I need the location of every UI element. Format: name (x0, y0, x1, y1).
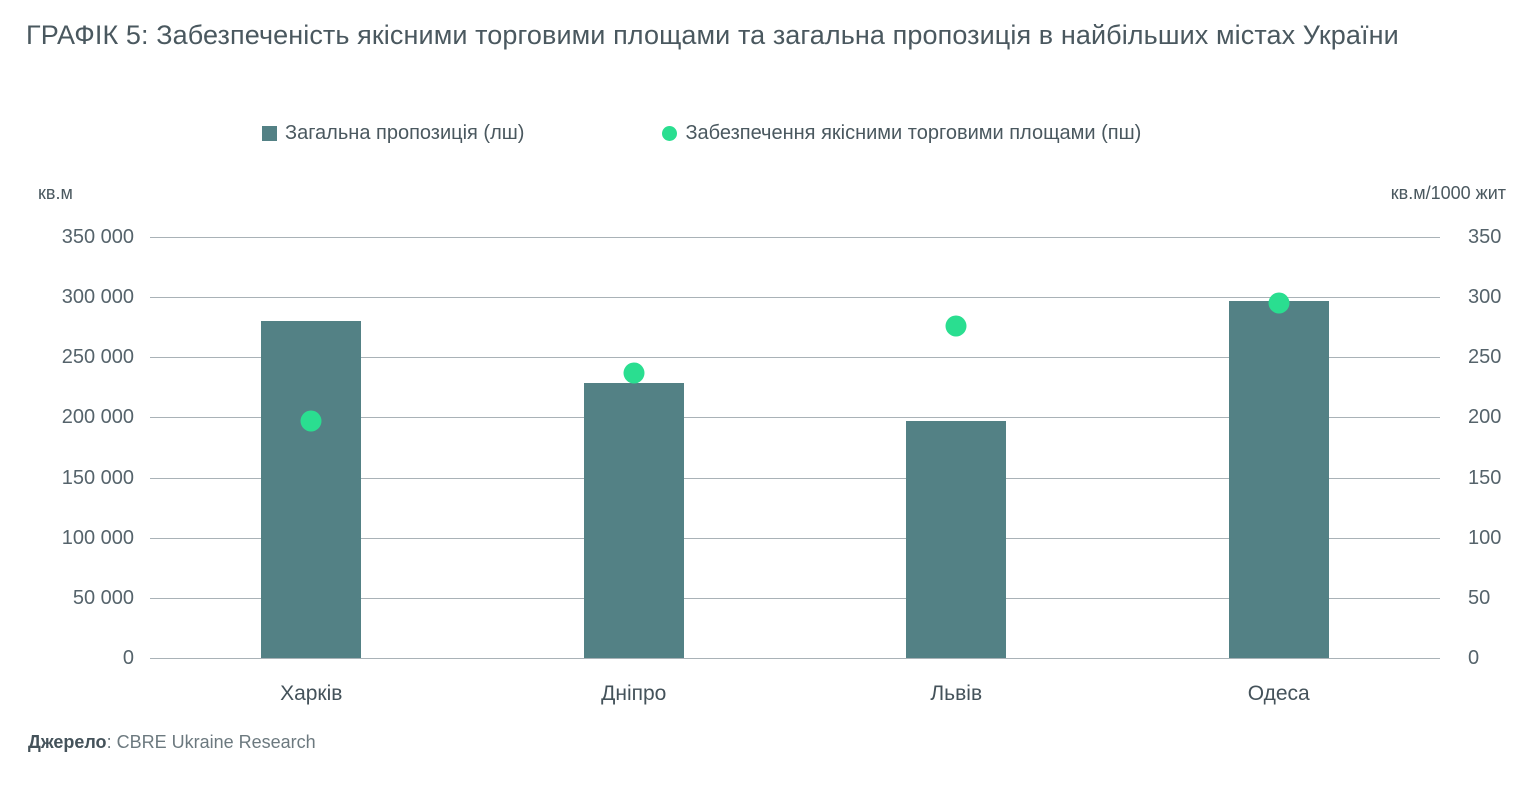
bar-львів[interactable] (906, 421, 1006, 658)
y-axis-tick-right: 50 (1468, 588, 1490, 608)
y-axis-tick-right: 0 (1468, 648, 1479, 668)
data-point-харків[interactable] (301, 411, 322, 432)
x-axis-label-дніпро: Дніпро (601, 682, 666, 706)
data-point-одеса[interactable] (1268, 293, 1289, 314)
source-note: Джерело: CBRE Ukraine Research (28, 732, 316, 753)
bar-одеса[interactable] (1229, 301, 1329, 658)
y-axis-tick-left: 0 (123, 648, 134, 668)
x-axis-label-львів: Львів (930, 682, 982, 706)
gridline (150, 297, 1440, 298)
data-point-дніпро[interactable] (623, 362, 644, 383)
y-axis-tick-right: 350 (1468, 227, 1501, 247)
y-axis-tick-right: 150 (1468, 468, 1501, 488)
source-separator: : (107, 732, 112, 752)
y-axis-tick-right: 100 (1468, 528, 1501, 548)
right-axis-unit: кв.м/1000 жит (1391, 183, 1506, 204)
source-label: Джерело (28, 732, 107, 752)
y-axis-tick-left: 250 000 (62, 347, 134, 367)
circle-marker-icon (662, 126, 677, 141)
gridline (150, 237, 1440, 238)
y-axis-tick-left: 300 000 (62, 287, 134, 307)
chart-title: ГРАФІК 5: Забезпеченість якісними торгов… (26, 16, 1446, 54)
legend-item-total-supply[interactable]: Загальна пропозиція (лш) (262, 122, 524, 145)
legend-label-provision: Забезпечення якісними торговими площами … (685, 122, 1141, 145)
left-axis-unit: кв.м (38, 183, 73, 204)
source-value: CBRE Ukraine Research (117, 732, 316, 752)
square-marker-icon (262, 126, 277, 141)
y-axis-tick-right: 250 (1468, 347, 1501, 367)
data-point-львів[interactable] (946, 316, 967, 337)
plot-area: 350 000350300 000300250 000250200 000200… (150, 237, 1440, 658)
y-axis-tick-right: 300 (1468, 287, 1501, 307)
chart-legend: Загальна пропозиція (лш) Забезпечення як… (262, 122, 1141, 145)
gridline (150, 658, 1440, 659)
bar-дніпро[interactable] (584, 383, 684, 658)
x-axis-label-одеса: Одеса (1248, 682, 1310, 706)
y-axis-tick-left: 50 000 (73, 588, 134, 608)
legend-label-total-supply: Загальна пропозиція (лш) (285, 122, 524, 145)
y-axis-tick-left: 350 000 (62, 227, 134, 247)
y-axis-tick-left: 200 000 (62, 407, 134, 427)
bar-харків[interactable] (261, 321, 361, 658)
legend-item-provision[interactable]: Забезпечення якісними торговими площами … (662, 122, 1141, 145)
x-axis-label-харків: Харків (280, 682, 342, 706)
y-axis-tick-right: 200 (1468, 407, 1501, 427)
y-axis-tick-left: 100 000 (62, 528, 134, 548)
y-axis-tick-left: 150 000 (62, 468, 134, 488)
